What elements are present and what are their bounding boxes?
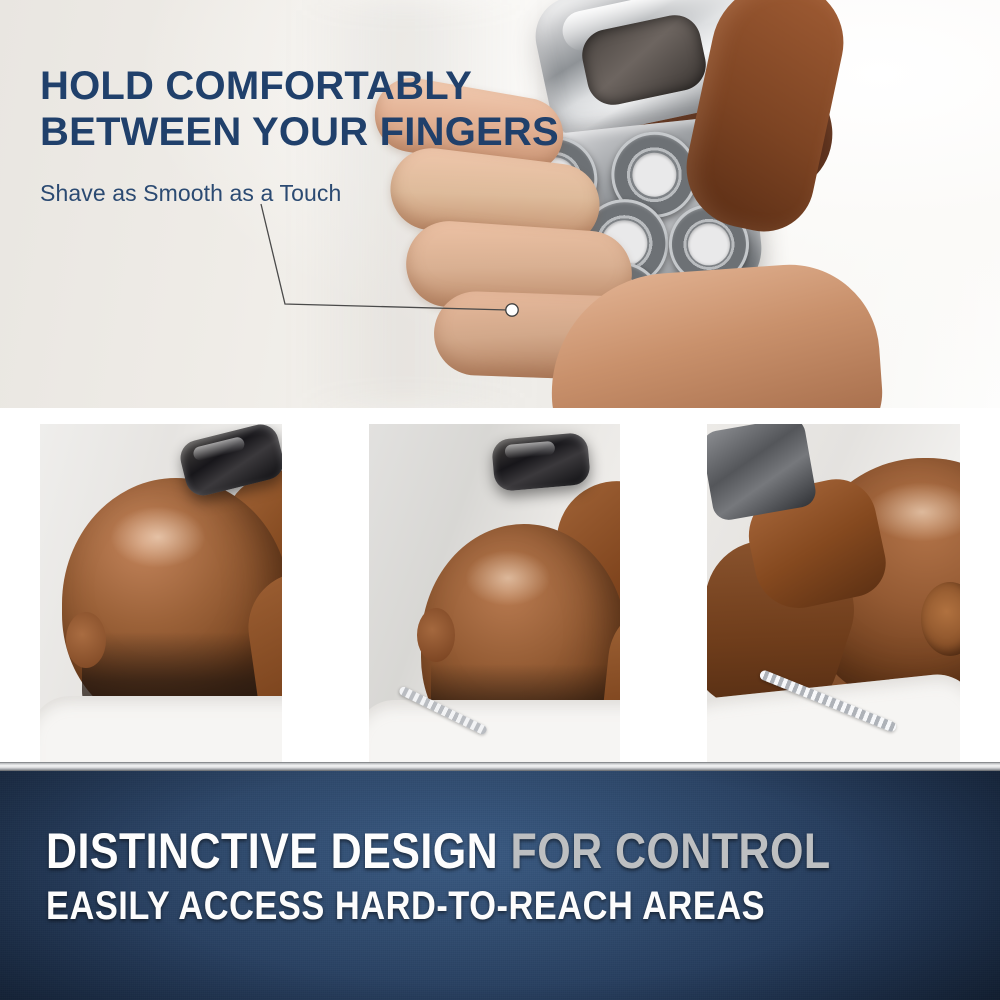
head-highlight — [110, 506, 206, 568]
banner-subheadline: EASILY ACCESS HARD-TO-REACH AREAS — [46, 884, 765, 929]
callout-leader-line — [255, 200, 545, 320]
hero-section: HOLD COMFORTABLYBETWEEN YOUR FINGERS Sha… — [0, 0, 1000, 408]
photo-panel-3 — [707, 424, 960, 778]
banner-headline: DISTINCTIVE DESIGN FOR CONTROL — [46, 822, 831, 880]
head-highlight — [465, 550, 551, 606]
page-title: HOLD COMFORTABLYBETWEEN YOUR FINGERS — [40, 63, 680, 155]
panel-divider-gap — [660, 408, 667, 762]
banner-headline-white: DISTINCTIVE DESIGN — [46, 823, 498, 879]
banner-headline-grey: FOR CONTROL — [498, 823, 830, 879]
headline-line-1: HOLD COMFORTABLY — [40, 64, 472, 108]
photo-panel-1 — [40, 424, 282, 778]
photo-panel-row — [0, 408, 1000, 762]
chrome-strip — [0, 762, 1000, 771]
product-feature-graphic: HOLD COMFORTABLYBETWEEN YOUR FINGERS Sha… — [0, 0, 1000, 1000]
black-shaver — [491, 432, 591, 492]
ear — [66, 612, 106, 668]
photo-panel-2 — [369, 424, 619, 778]
callout-endpoint-dot — [506, 304, 518, 316]
headline-line-2: BETWEEN YOUR FINGERS — [40, 109, 680, 155]
panel-divider-gap — [322, 408, 329, 762]
ear — [417, 608, 455, 662]
